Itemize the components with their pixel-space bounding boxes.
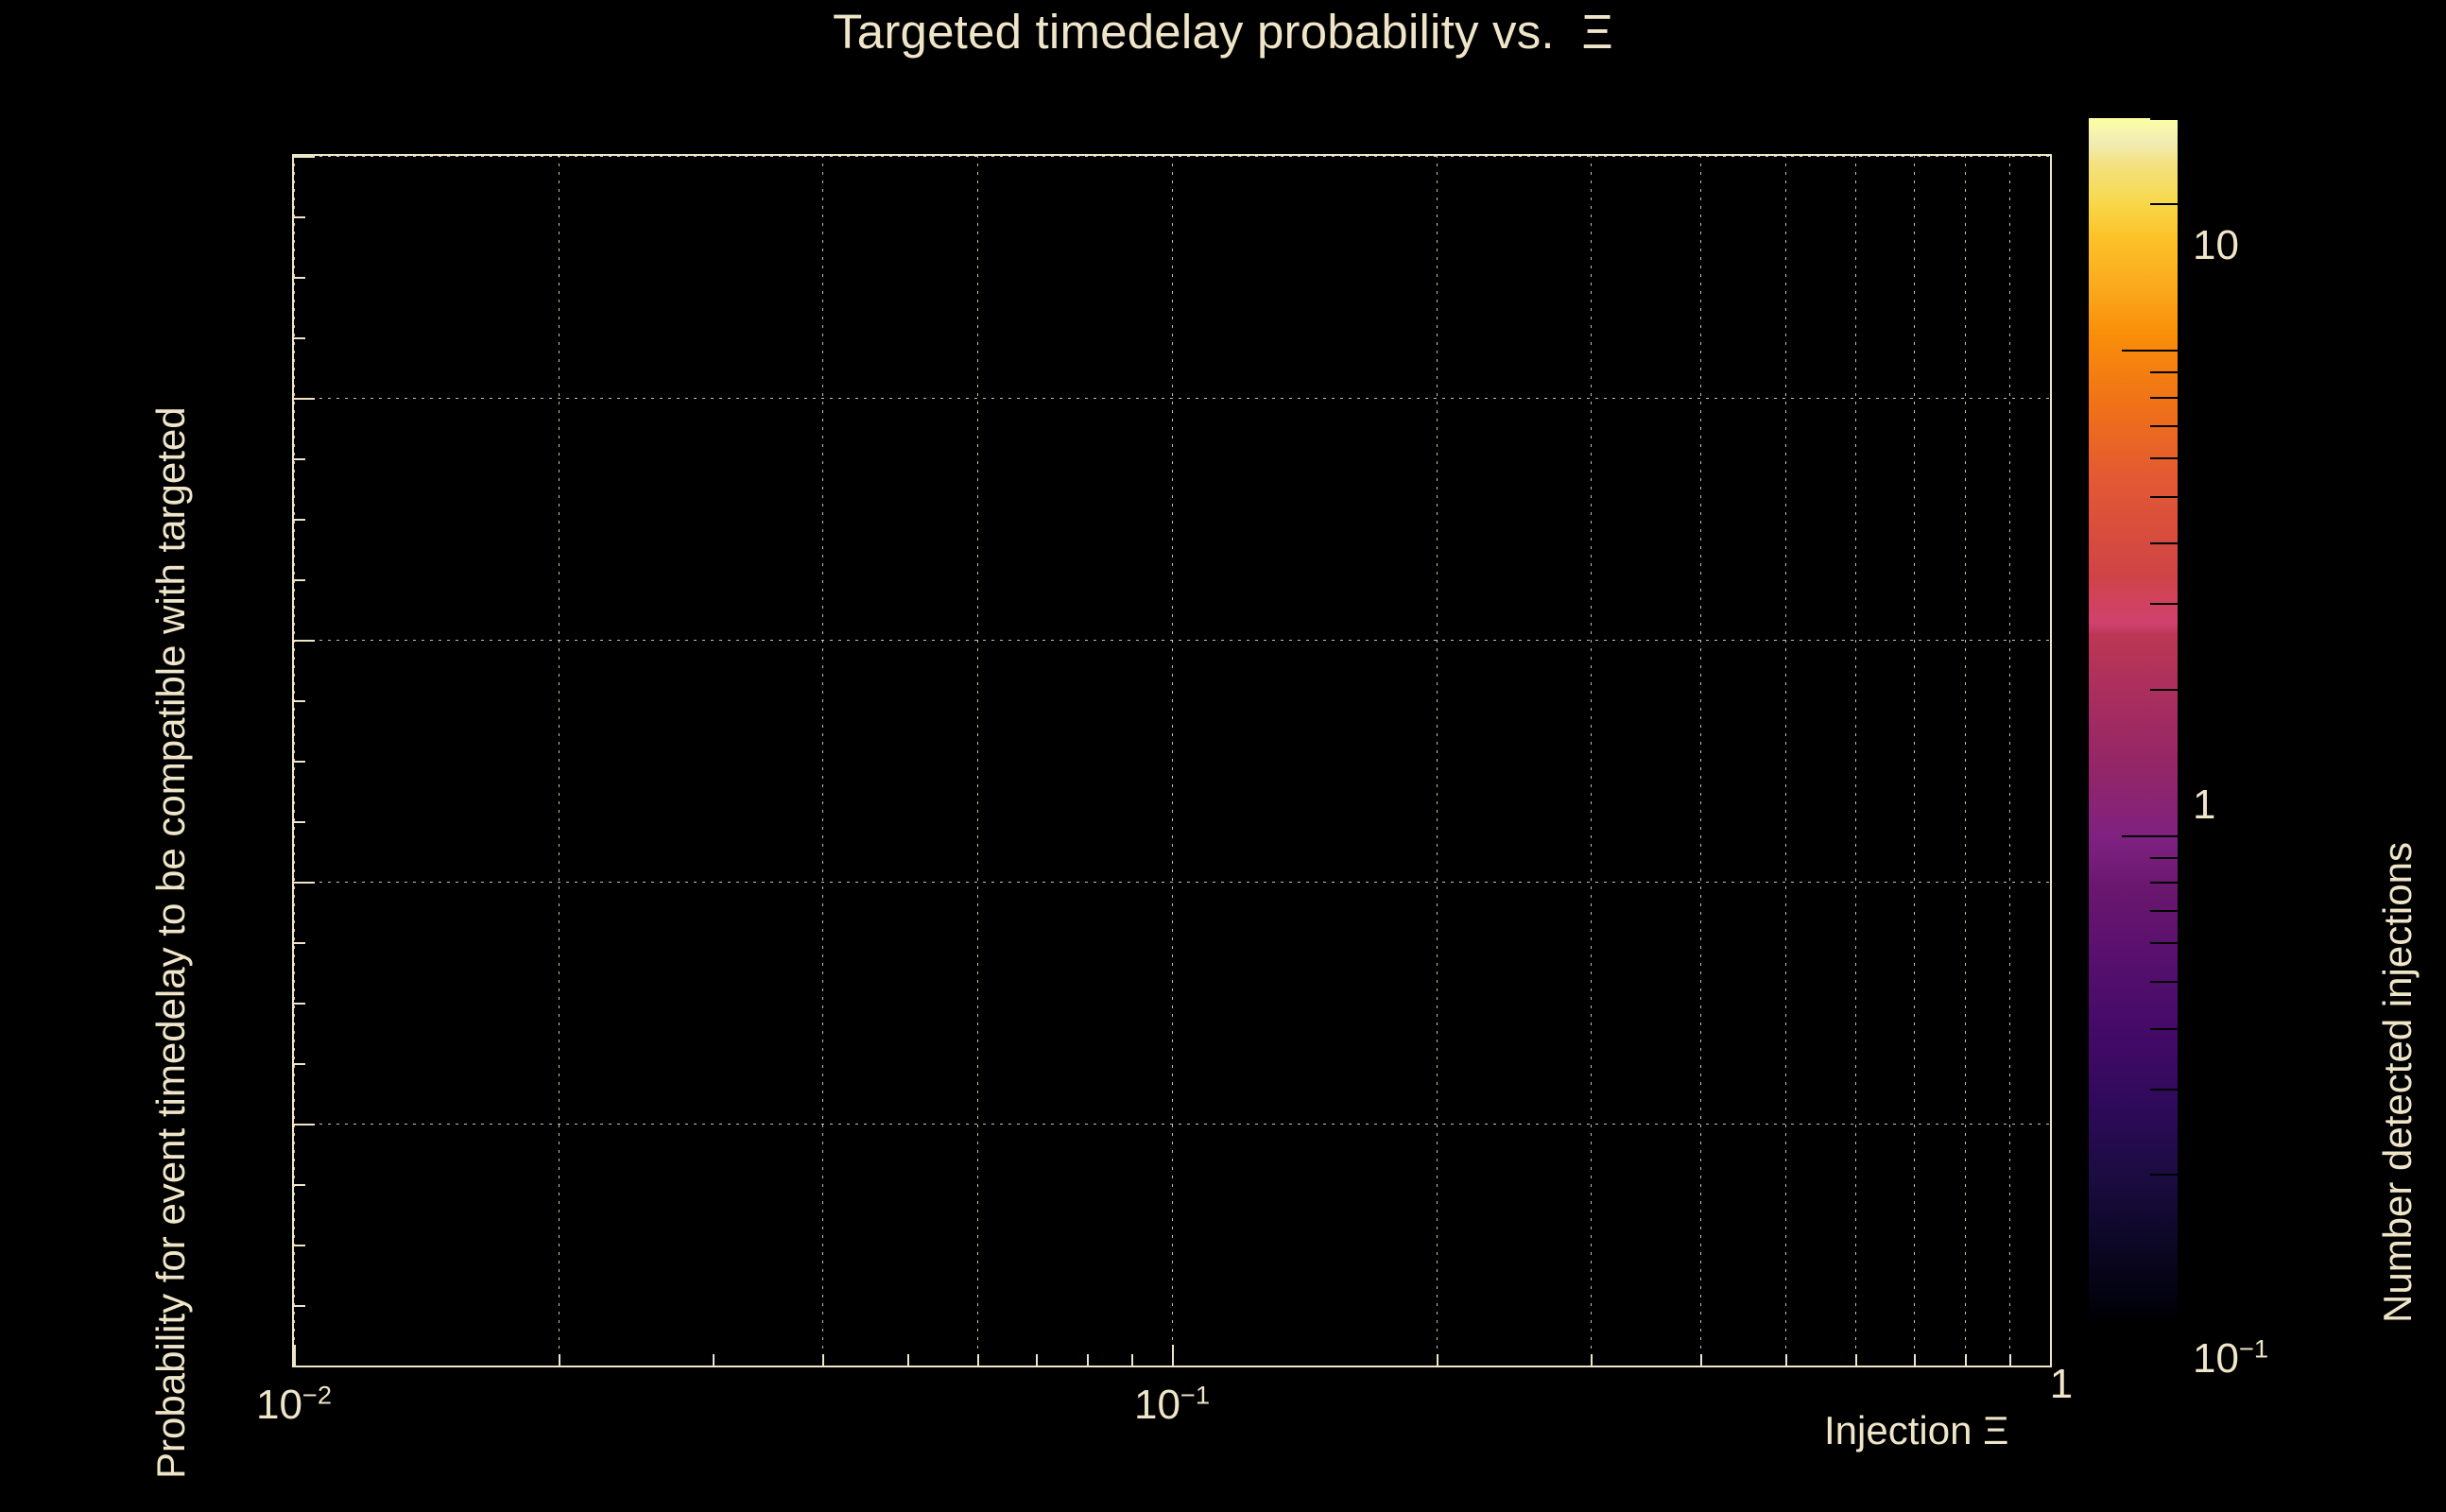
y-tick-major [294,1124,315,1125]
colorbar-tick-minor [2150,857,2178,859]
gridline-vertical [1785,155,1786,1366]
y-tick-minor [294,1063,305,1065]
colorbar-tick-minor [2150,371,2178,373]
x-tick-label: 10−1 [1134,1382,1210,1429]
y-tick-minor [294,519,305,521]
gridline-vertical [1855,155,1856,1366]
y-tick-minor [294,761,305,763]
x-tick-minor [1131,1354,1133,1366]
y-tick-major [294,640,315,642]
x-tick-major [294,1345,296,1366]
gridline-vertical [2050,155,2051,1366]
colorbar-tick-major [2122,835,2178,837]
colorbar-tick-label: 10 [2193,222,2239,269]
colorbar-tick-minor [2150,882,2178,884]
x-tick-minor [1087,1354,1089,1366]
y-tick-minor [294,1245,305,1246]
gridline-vertical [977,155,978,1366]
x-tick-major [1172,1345,1174,1366]
x-tick-minor [1036,1354,1038,1366]
y-tick-minor [294,277,305,279]
colorbar-tick-major [2122,350,2178,352]
x-tick-minor [1965,1354,1967,1366]
colorbar-tick-minor [2150,942,2178,944]
colorbar-tick-minor [2150,910,2178,912]
gridline-vertical [2009,155,2010,1366]
y-tick-minor [294,579,305,581]
x-tick-minor [559,1354,560,1366]
y-tick-major [294,398,315,400]
y-axis-title: Probability for event timedelay to be co… [148,406,194,1479]
colorbar-tick-minor [2150,118,2178,120]
y-tick-major [294,882,315,884]
x-tick-minor [1785,1354,1787,1366]
x-tick-minor [822,1354,824,1366]
colorbar-tick-minor [2150,542,2178,544]
x-tick-minor [1914,1354,1916,1366]
x-tick-minor [1437,1354,1438,1366]
y-tick-minor [294,1003,305,1005]
gridline-vertical [1965,155,1966,1366]
colorbar-tick-major [2122,1320,2178,1322]
colorbar-tick-minor [2150,397,2178,399]
x-tick-minor [1855,1354,1857,1366]
colorbar-tick-minor [2150,203,2178,205]
y-tick-minor [294,1305,305,1307]
gridline-vertical [1700,155,1701,1366]
colorbar-tick-minor [2150,1028,2178,1030]
colorbar-tick-minor [2150,1174,2178,1176]
colorbar-tick-minor [2150,603,2178,605]
y-tick-minor [294,216,305,218]
x-tick-minor [1591,1354,1593,1366]
y-tick-minor [294,458,305,460]
gridline-vertical [1172,155,1173,1366]
colorbar-tick-minor [2150,981,2178,983]
colorbar-tick-minor [2150,425,2178,427]
colorbar-tick-minor [2150,496,2178,498]
x-tick-minor [1700,1354,1702,1366]
colorbar-tick-label: 10−1 [2193,1335,2268,1383]
y-tick-major [294,156,315,158]
page-title: Targeted timedelay probability vs. Ξ [0,4,2446,60]
y-tick-minor [294,700,305,702]
colorbar-gradient [2089,118,2178,1320]
gridline-vertical [1914,155,1915,1366]
x-tick-minor [713,1354,715,1366]
y-tick-minor [294,942,305,944]
x-tick-minor [2009,1354,2011,1366]
x-tick-label: 10−2 [256,1382,332,1429]
colorbar-tick-minor [2150,1089,2178,1091]
y-tick-minor [294,1184,305,1186]
gridline-vertical [1437,155,1438,1366]
colorbar-title: Number detected injections [2375,842,2420,1323]
gridline-vertical [559,155,560,1366]
y-tick-minor [294,337,305,339]
x-tick-minor [977,1354,979,1366]
colorbar-tick-minor [2150,457,2178,459]
colorbar-tick-label: 1 [2193,782,2215,829]
gridline-vertical [822,155,823,1366]
gridline-vertical [1591,155,1592,1366]
x-tick-label: 1 [2050,1361,2073,1408]
x-axis-title: Injection Ξ [1824,1408,2008,1453]
x-tick-minor [907,1354,909,1366]
y-tick-major [294,1366,315,1367]
plot-root: Targeted timedelay probability vs. Ξ 00.… [0,0,2446,1512]
y-tick-minor [294,821,305,823]
colorbar-tick-minor [2150,689,2178,691]
